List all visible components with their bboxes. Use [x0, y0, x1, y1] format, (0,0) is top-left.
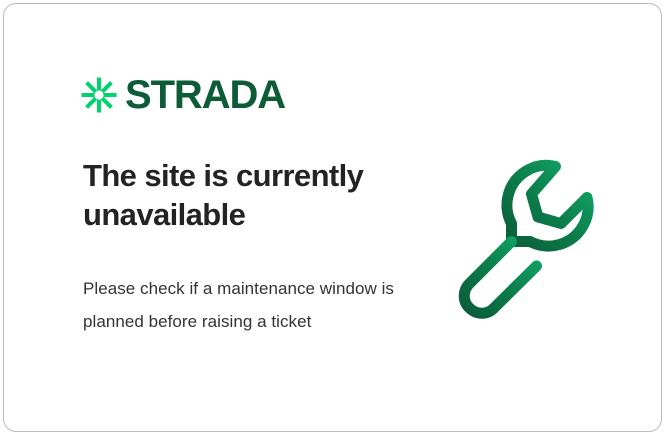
status-card: STRADA The site is currently unavailable… [3, 3, 662, 432]
wrench-icon [456, 149, 616, 317]
page-description: Please check if a maintenance window is … [83, 272, 403, 338]
strada-asterisk-icon [80, 76, 118, 114]
brand-wordmark: STRADA [125, 75, 285, 115]
brand-logo: STRADA [80, 74, 285, 116]
maintenance-page: STRADA The site is currently unavailable… [0, 0, 666, 436]
page-title: The site is currently unavailable [83, 156, 423, 234]
